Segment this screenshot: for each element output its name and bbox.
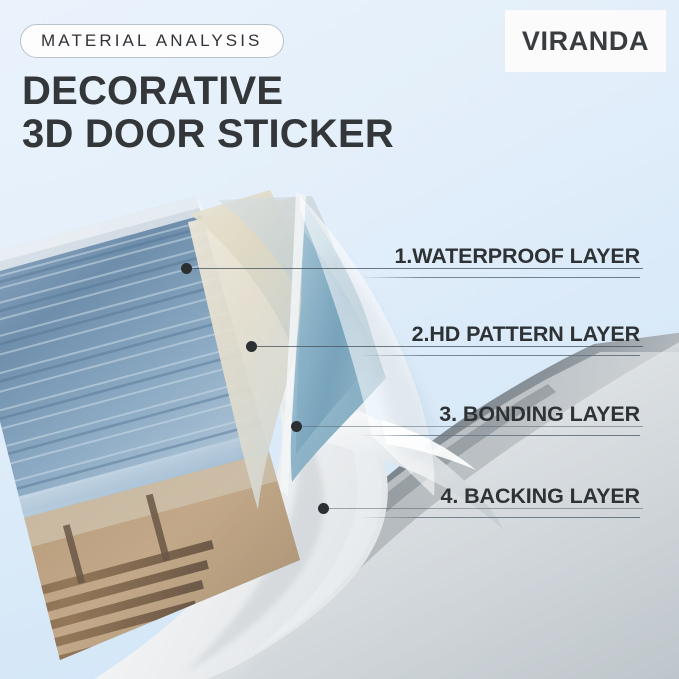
callout-bonding: 3. BONDING LAYER xyxy=(360,396,640,436)
eyebrow-badge: MATERIAL ANALYSIS xyxy=(20,24,284,58)
brand-logo: VIRANDA xyxy=(505,10,666,72)
callout-dot-backing xyxy=(318,503,329,514)
callout-rule-backing xyxy=(360,517,640,518)
callout-rule-waterproof xyxy=(360,277,640,278)
callout-label-hd-pattern: 2.HD PATTERN LAYER xyxy=(412,322,640,347)
callout-rule-bonding xyxy=(360,435,640,436)
page-title-line-1: DECORATIVE xyxy=(22,69,283,113)
leader-line-backing xyxy=(328,508,643,509)
page-title: DECORATIVE3D DOOR STICKER xyxy=(22,70,394,156)
callout-backing: 4. BACKING LAYER xyxy=(360,478,640,518)
callout-label-bonding: 3. BONDING LAYER xyxy=(439,402,640,427)
page-title-line-2: 3D DOOR STICKER xyxy=(22,112,394,156)
leader-line-hd-pattern xyxy=(256,346,643,347)
callout-label-backing: 4. BACKING LAYER xyxy=(440,484,640,509)
leader-line-bonding xyxy=(301,426,643,427)
callout-dot-bonding xyxy=(291,421,302,432)
callout-dot-hd-pattern xyxy=(246,341,257,352)
leader-line-waterproof xyxy=(191,268,643,269)
callout-hd-pattern: 2.HD PATTERN LAYER xyxy=(360,316,640,356)
brand-logo-text: VIRANDA xyxy=(522,26,649,57)
callout-waterproof: 1.WATERPROOF LAYER xyxy=(360,238,640,278)
poster-canvas: MATERIAL ANALYSIS DECORATIVE3D DOOR STIC… xyxy=(0,0,679,679)
callout-dot-waterproof xyxy=(181,263,192,274)
callout-label-waterproof: 1.WATERPROOF LAYER xyxy=(395,244,640,269)
callout-rule-hd-pattern xyxy=(360,355,640,356)
